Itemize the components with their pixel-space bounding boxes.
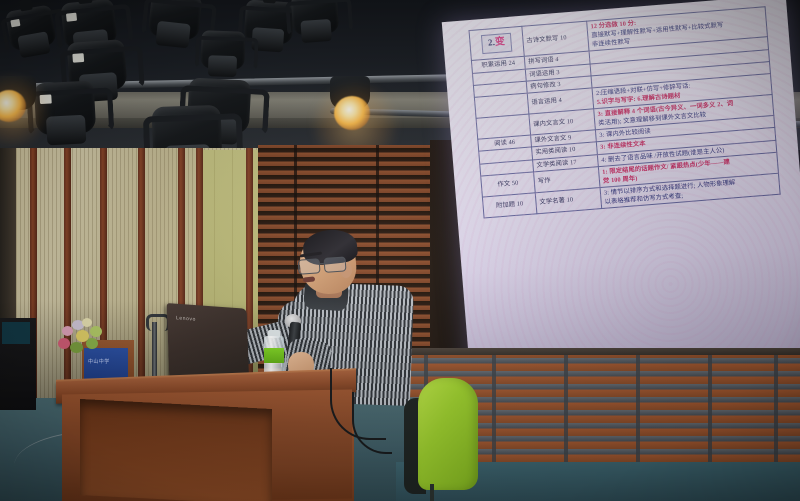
microphone-stand xyxy=(152,322,157,384)
stage-light-fixture xyxy=(148,0,203,41)
slide-row-subject: 文学名著 10 xyxy=(535,187,601,213)
slide-row-category: 附加题 10 xyxy=(482,193,537,218)
chair-leg xyxy=(430,484,434,501)
stage-light-fixture xyxy=(5,4,57,51)
lamp-bulb xyxy=(334,96,370,130)
flower-arrangement xyxy=(56,318,112,354)
eyeglasses-icon xyxy=(298,256,349,273)
water-bottle-label xyxy=(264,348,284,363)
projection-screen: 2.变古诗文默写 1012 分选做 10 分:直接默写+理解性默写+运用性默写+… xyxy=(442,0,800,379)
lecture-hall-photo: 2.变古诗文默写 1012 分选做 10 分:直接默写+理解性默写+运用性默写+… xyxy=(0,0,800,501)
slide-row-category: 2.变 xyxy=(469,26,524,61)
stage-light-fixture xyxy=(291,0,340,36)
monitor-screen xyxy=(2,322,30,344)
stage-light-fixture xyxy=(201,30,246,70)
green-chair xyxy=(418,378,478,490)
slide-exam-analysis-table: 2.变古诗文默写 1012 分选做 10 分:直接默写+理解性默写+运用性默写+… xyxy=(468,6,780,218)
slide-category-badge: 2.变 xyxy=(481,33,511,54)
lectern-recess xyxy=(80,399,272,501)
